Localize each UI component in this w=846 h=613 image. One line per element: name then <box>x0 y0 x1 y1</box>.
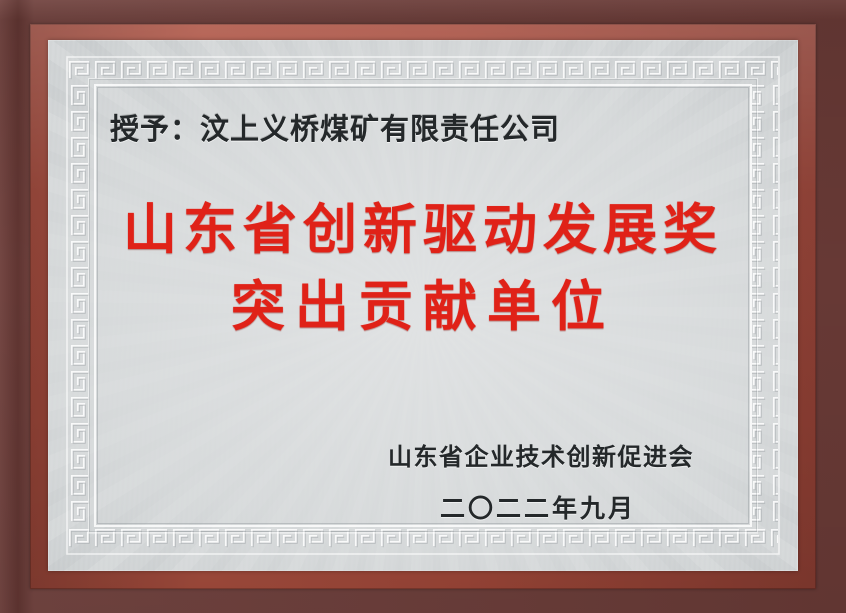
award-title-line-1: 山东省创新驱动发展奖 <box>48 192 798 268</box>
issue-date: 二〇二二年九月 <box>388 489 688 525</box>
award-plaque: 授予：汶上义桥煤矿有限责任公司 山东省创新驱动发展奖 突出贡献单位 山东省企业技… <box>0 0 846 613</box>
signature-block: 山东省企业技术创新促进会 二〇二二年九月 <box>388 437 688 525</box>
recipient-line: 授予：汶上义桥煤矿有限责任公司 <box>110 106 560 148</box>
plaque-face: 授予：汶上义桥煤矿有限责任公司 山东省创新驱动发展奖 突出贡献单位 山东省企业技… <box>48 40 798 571</box>
issuing-organization: 山东省企业技术创新促进会 <box>388 437 688 472</box>
plaque-text-content: 授予：汶上义桥煤矿有限责任公司 山东省创新驱动发展奖 突出贡献单位 山东省企业技… <box>48 40 798 571</box>
award-title-block: 山东省创新驱动发展奖 突出贡献单位 <box>48 192 798 346</box>
award-title-line-2: 突出贡献单位 <box>48 268 798 346</box>
